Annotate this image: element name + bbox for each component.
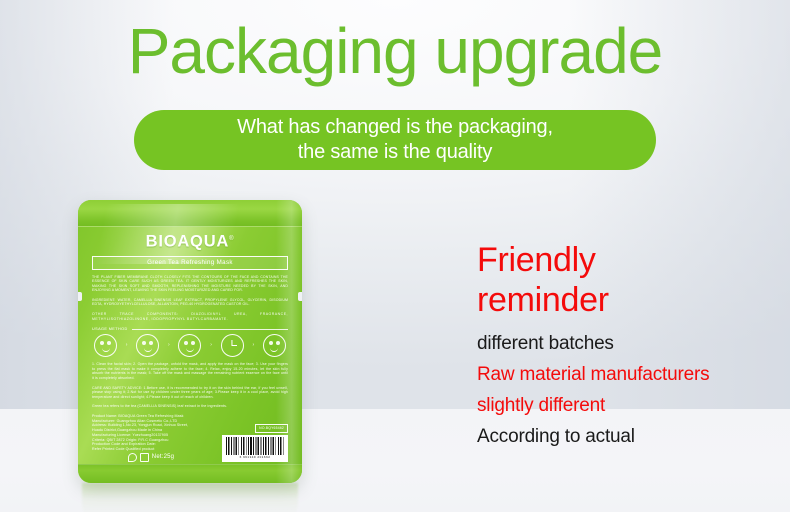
tagline-line-2: the same is the quality [298,140,492,165]
package-code-column: NO.BQY65462 6 961349 201662 [214,424,288,462]
product-name: Green Tea Refreshing Mask [147,259,233,267]
tagline-banner: What has changed is the packaging, the s… [134,110,656,170]
usage-method-label: USAGE METHOD [92,327,128,331]
usage-icon-row: › › › › [92,334,288,357]
face-clean-icon [94,334,117,357]
package-usage-steps: 1. Clean the facial skin; 2. Open the pa… [92,362,288,380]
face-result-icon [263,334,286,357]
package-trace-components: OTHER TRACE COMPONENTS: DIAZOLIDINYL URE… [92,312,288,321]
batch-number-label: NO.BQY65462 [255,424,288,433]
recycle-icon [128,453,137,462]
package-ingredients: INGREDIENT: WATER, CAMELLIA SINENSIS LEA… [92,298,288,307]
promo-page: Packaging upgrade What has changed is th… [0,0,790,512]
brand-name: BIOAQUA [146,233,230,251]
package-reflection [82,483,298,512]
usage-method-header: USAGE METHOD [92,327,288,331]
package-description: THE PLANT FIBER MEMBRANE CLOTH CLOSELY F… [92,275,288,293]
arrow-separator-icon: › [126,343,128,348]
barcode-number: 6 961349 201662 [240,455,271,459]
package-green-tea-note: Green tea refers to the tea (CAMELLIA SI… [92,404,288,409]
package-footer: Product Name: BIOAQUA Green Tea Refreshi… [92,414,288,462]
usage-divider [132,329,288,330]
net-weight-row: Net:25g [92,453,210,462]
reminder-block: Friendly reminder different batches Raw … [477,240,777,452]
package-bottom-seal [78,464,302,483]
package-front: BIOAQUA® Green Tea Refreshing Mask THE P… [78,200,302,483]
tagline-line-1: What has changed is the packaging, [237,115,553,140]
press-mask-icon [178,334,201,357]
mask-apply-icon [136,334,159,357]
arrow-separator-icon: › [252,343,254,348]
timer-icon [221,334,244,357]
page-title: Packaging upgrade [0,16,790,86]
barcode: 6 961349 201662 [222,435,288,462]
reminder-title-line-1: Friendly [477,240,777,280]
reminder-item-1: different batches [477,328,777,359]
barcode-bars-icon [226,437,284,455]
net-weight: Net:25g [152,454,174,460]
open-jar-icon [140,453,149,462]
package-right-notch [298,292,302,301]
arrow-separator-icon: › [210,343,212,348]
package-top-seal [78,200,302,227]
package-info-column: Product Name: BIOAQUA Green Tea Refreshi… [92,414,210,462]
reminder-title-line-2: reminder [477,280,777,320]
reminder-item-3: slightly different [477,390,777,421]
product-name-bar: Green Tea Refreshing Mask [92,256,288,270]
arrow-separator-icon: › [168,343,170,348]
reminder-item-4: According to actual [477,421,777,452]
package-left-notch [78,292,82,301]
reminder-item-2: Raw material manufacturers [477,359,777,390]
package-safety-advice: CARE AND SAFETY ADVICE: 1.Before use, it… [92,386,288,400]
package-content: BIOAQUA® Green Tea Refreshing Mask THE P… [92,228,288,463]
product-package: BIOAQUA® Green Tea Refreshing Mask THE P… [72,197,308,492]
info-line: Refer Printed Code Qualified product [92,447,210,452]
brand-logo: BIOAQUA® [92,230,288,251]
registered-mark-icon: ® [229,236,234,242]
